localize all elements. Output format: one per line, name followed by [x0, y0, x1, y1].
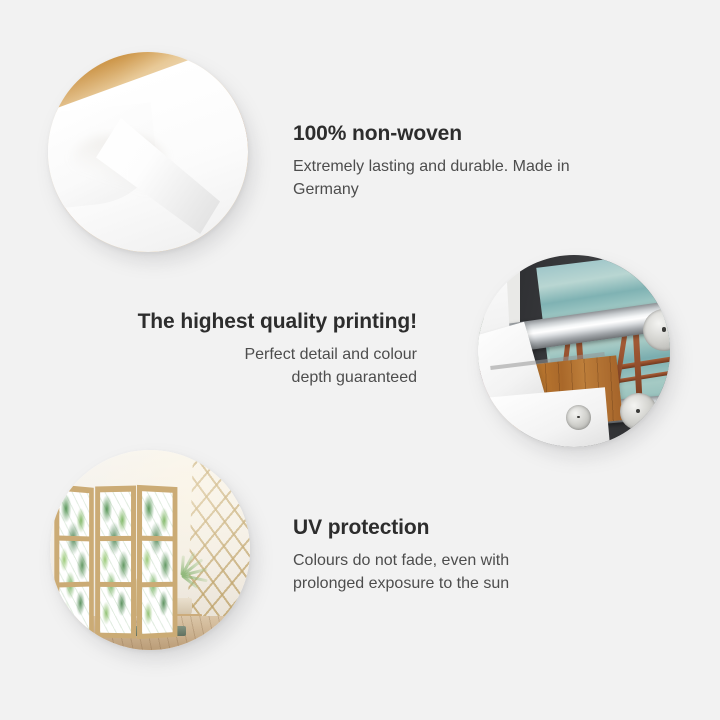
feature-printing-text: The highest quality printing! Perfect de…	[117, 310, 417, 390]
wallpaper-peel-corner-image	[48, 52, 248, 252]
feature-uv-protection-description: Colours do not fade, even with prolonged…	[293, 550, 533, 595]
divider-panel	[54, 484, 94, 640]
product-features-infographic: 100% non-woven Extremely lasting and dur…	[0, 0, 720, 720]
feature-uv-protection-text: UV protection Colours do not fade, even …	[293, 516, 593, 596]
folding-room-divider	[54, 486, 178, 638]
divider-panel	[96, 486, 137, 639]
feature-printing-description: Perfect detail and colour depth guarante…	[217, 344, 417, 389]
roller-hub	[662, 327, 667, 332]
large-format-printer-image	[478, 255, 670, 447]
divider-panel	[137, 485, 178, 639]
feature-non-woven-description: Extremely lasting and durable. Made in G…	[293, 156, 603, 201]
monstera-leaf-pattern	[59, 491, 89, 635]
roller-end-cap	[566, 405, 591, 430]
feature-non-woven-text: 100% non-woven Extremely lasting and dur…	[293, 122, 603, 202]
tropical-room-divider-image	[50, 450, 250, 650]
roller-hub	[636, 409, 640, 413]
roller-hub	[577, 416, 580, 419]
roller-end-cap	[620, 393, 656, 429]
feature-uv-protection-title: UV protection	[293, 516, 593, 539]
monstera-leaf-pattern	[142, 491, 173, 634]
press-output-tray	[478, 388, 611, 447]
monstera-leaf-pattern	[100, 492, 131, 634]
feature-printing-title: The highest quality printing!	[117, 310, 417, 333]
feature-non-woven-title: 100% non-woven	[293, 122, 603, 145]
